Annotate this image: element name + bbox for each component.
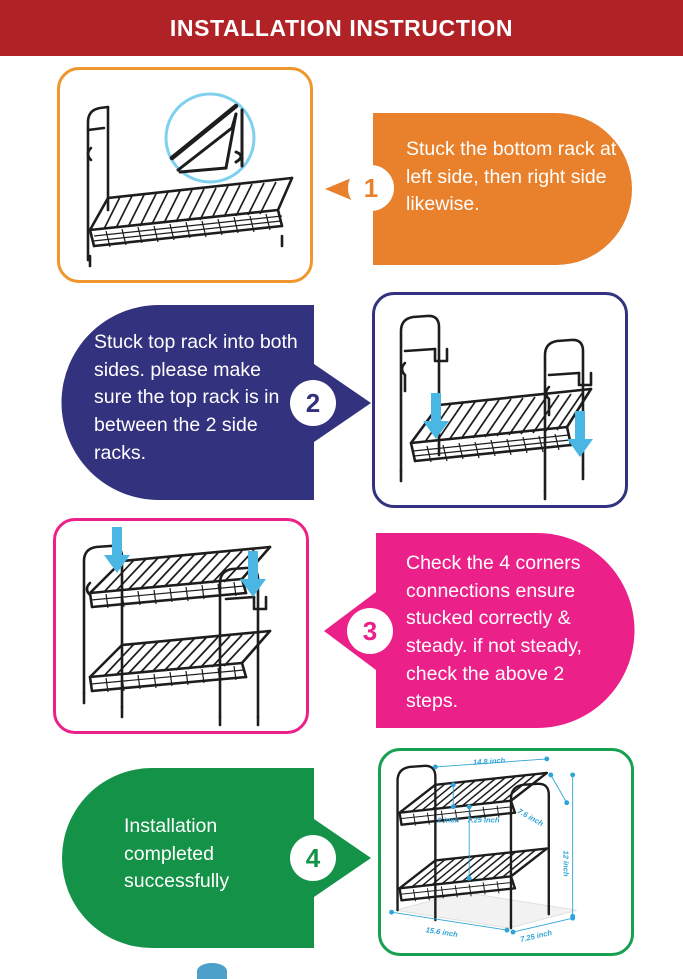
page-title: INSTALLATION INSTRUCTION (170, 17, 513, 40)
step-2-image-panel (372, 292, 628, 508)
dim-top-depth: 7.6 inch (516, 807, 545, 829)
step-3-text: Check the 4 corners connections ensure s… (406, 550, 621, 716)
dim-base-width: 15.6 inch (425, 925, 459, 939)
step-3-number-badge: 3 (347, 608, 393, 654)
dim-base-depth: 7.25 inch (519, 928, 553, 944)
bottom-partial-shape (197, 963, 227, 979)
step-2-callout: 2 Stuck top rack into both sides. please… (62, 305, 374, 500)
dim-top-width: 14.8 inch (473, 756, 506, 767)
rack-illustration-step-1 (60, 70, 310, 280)
step-4-text: Installation completed successfully (124, 813, 309, 896)
step-1-callout: 1 Stuck the bottom rack at left side, th… (322, 113, 632, 265)
step-4-callout: 4 Installation completed successfully (62, 768, 374, 948)
header-banner: INSTALLATION INSTRUCTION (0, 0, 683, 56)
rack-dimensions-illustration: 14.8 inch 7.6 inch 12 inch 2 inch 7.25 i… (381, 751, 631, 953)
rack-illustration-step-2 (375, 295, 625, 505)
step-1-image-panel (57, 67, 313, 283)
rack-illustration-step-3 (56, 521, 306, 731)
step-2-text: Stuck top rack into both sides. please m… (94, 329, 300, 467)
step-3-callout: 3 Check the 4 corners connections ensure… (322, 533, 634, 728)
step-1-number-badge: 1 (348, 165, 394, 211)
step-4-image-panel: 14.8 inch 7.6 inch 12 inch 2 inch 7.25 i… (378, 748, 634, 956)
dim-total-height: 12 inch (562, 851, 571, 877)
step-1-text: Stuck the bottom rack at left side, then… (406, 136, 621, 219)
dim-tier-gap: 2 inch (436, 816, 459, 825)
step-3-image-panel (53, 518, 309, 734)
dim-tier-height: 7.25 inch (467, 816, 500, 825)
